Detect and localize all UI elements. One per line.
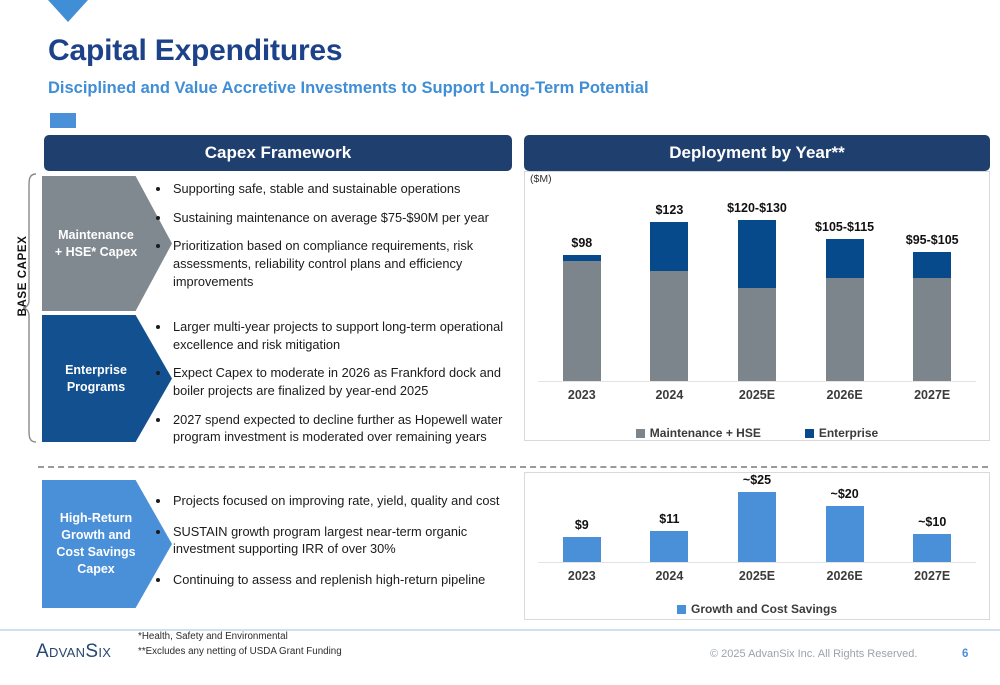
bar-segment xyxy=(563,261,601,381)
list-item: Continuing to assess and replenish high-… xyxy=(171,571,507,589)
chart-legend: Growth and Cost Savings xyxy=(524,602,990,616)
bar-segment xyxy=(738,220,776,288)
section-divider xyxy=(38,466,988,468)
bar-value-label: $11 xyxy=(659,512,679,526)
list-item: Projects focused on improving rate, yiel… xyxy=(171,492,507,510)
capex-framework-header: Capex Framework xyxy=(44,135,512,171)
bar-column: $105-$115 xyxy=(826,239,864,381)
page-subtitle: Disciplined and Value Accretive Investme… xyxy=(48,79,649,98)
plot-area: $98$123$120-$130$105-$115$95-$105 xyxy=(524,207,990,381)
bar-column: ~$10 xyxy=(913,534,951,562)
bar-value-label: $123 xyxy=(655,203,683,217)
chart-legend: Maintenance + HSEEnterprise xyxy=(524,426,990,440)
bar-segment xyxy=(650,271,688,381)
top-triangle-marker xyxy=(48,0,88,22)
list-item: SUSTAIN growth program largest near-term… xyxy=(171,523,507,558)
bar-segment xyxy=(738,288,776,381)
legend-label: Maintenance + HSE xyxy=(650,426,761,440)
x-axis-tick-label: 2026E xyxy=(827,569,863,583)
chevron-high-return-growth: High-Return Growth and Cost Savings Cape… xyxy=(42,480,172,608)
list-item: Larger multi-year projects to support lo… xyxy=(171,318,513,353)
deployment-by-year-chart: $98$123$120-$130$105-$115$95-$1052023202… xyxy=(524,171,990,441)
bar-column: ~$20 xyxy=(826,506,864,562)
bar-segment xyxy=(563,537,601,562)
bar-segment xyxy=(738,492,776,562)
x-axis-line xyxy=(538,381,976,382)
advansix-logo: ADVANSIX xyxy=(36,641,111,663)
chevron-enterprise-label: Enterprise Programs xyxy=(65,362,127,396)
chevron-enterprise-programs: Enterprise Programs xyxy=(42,315,172,442)
bar-value-label: $9 xyxy=(575,518,589,532)
page-title: Capital Expenditures xyxy=(48,34,342,68)
x-axis-tick-label: 2024 xyxy=(655,569,683,583)
list-item: 2027 spend expected to decline further a… xyxy=(171,411,513,446)
x-axis-tick-label: 2027E xyxy=(914,388,950,402)
legend-label: Enterprise xyxy=(819,426,878,440)
chevron-maintenance-hse: Maintenance + HSE* Capex xyxy=(42,176,172,311)
square-accent-marker xyxy=(50,113,76,128)
bar-column: $95-$105 xyxy=(913,252,951,381)
x-axis-tick-label: 2023 xyxy=(568,388,596,402)
chevron-growth-label: High-Return Growth and Cost Savings Cape… xyxy=(56,510,135,578)
bar-column: $98 xyxy=(563,255,601,381)
bar-column: $11 xyxy=(650,531,688,562)
deployment-by-year-header: Deployment by Year** xyxy=(524,135,990,171)
x-axis-tick-label: 2027E xyxy=(914,569,950,583)
x-axis-line xyxy=(538,562,976,563)
bar-segment xyxy=(826,506,864,562)
bar-value-label: ~$25 xyxy=(743,473,771,487)
bar-segment xyxy=(913,278,951,381)
legend-swatch-icon xyxy=(805,429,814,438)
legend-swatch-icon xyxy=(677,605,686,614)
bar-segment xyxy=(650,531,688,562)
legend-item[interactable]: Maintenance + HSE xyxy=(636,426,761,440)
legend-item[interactable]: Enterprise xyxy=(805,426,878,440)
list-item: Prioritization based on compliance requi… xyxy=(171,237,507,290)
x-axis-tick-label: 2026E xyxy=(827,388,863,402)
bar-column: $123 xyxy=(650,222,688,381)
footnote-2: **Excludes any netting of USDA Grant Fun… xyxy=(138,645,342,660)
x-axis-tick-label: 2024 xyxy=(655,388,683,402)
bar-value-label: $98 xyxy=(571,236,592,250)
bar-value-label: $95-$105 xyxy=(906,233,959,247)
footnote-1: *Health, Safety and Environmental xyxy=(138,630,342,645)
bar-segment xyxy=(650,222,688,271)
legend-item[interactable]: Growth and Cost Savings xyxy=(677,602,837,616)
growth-and-cost-savings-chart: $9$11~$25~$20~$10202320242025E2026E2027E… xyxy=(524,472,990,620)
plot-area: $9$11~$25~$20~$10 xyxy=(524,484,990,562)
x-axis-tick-label: 2025E xyxy=(739,569,775,583)
x-axis-tick-label: 2023 xyxy=(568,569,596,583)
growth-bullets: Projects focused on improving rate, yiel… xyxy=(155,492,507,602)
bar-value-label: $105-$115 xyxy=(815,220,874,234)
bar-value-label: ~$10 xyxy=(918,515,946,529)
bar-value-label: $120-$130 xyxy=(727,201,787,215)
list-item: Sustaining maintenance on average $75-$9… xyxy=(171,209,507,227)
bar-segment xyxy=(826,239,864,278)
bar-column: $9 xyxy=(563,537,601,562)
bar-column: ~$25 xyxy=(738,492,776,562)
chevron-maintenance-label: Maintenance + HSE* Capex xyxy=(55,227,137,261)
list-item: Expect Capex to moderate in 2026 as Fran… xyxy=(171,364,513,399)
bar-segment xyxy=(913,252,951,278)
page-number: 6 xyxy=(962,648,968,660)
bar-segment xyxy=(913,534,951,562)
x-axis-tick-label: 2025E xyxy=(739,388,775,402)
legend-swatch-icon xyxy=(636,429,645,438)
copyright-text: © 2025 AdvanSix Inc. All Rights Reserved… xyxy=(710,648,917,660)
bar-column: $120-$130 xyxy=(738,220,776,381)
list-item: Supporting safe, stable and sustainable … xyxy=(171,180,507,198)
base-capex-brace-icon xyxy=(22,172,38,444)
enterprise-bullets: Larger multi-year projects to support lo… xyxy=(155,318,513,457)
footnotes: *Health, Safety and Environmental **Excl… xyxy=(138,630,342,659)
maintenance-bullets: Supporting safe, stable and sustainable … xyxy=(155,180,507,301)
bar-value-label: ~$20 xyxy=(831,487,859,501)
legend-label: Growth and Cost Savings xyxy=(691,602,837,616)
slide-root: Capital Expenditures Disciplined and Val… xyxy=(0,0,1000,685)
bar-segment xyxy=(826,278,864,381)
